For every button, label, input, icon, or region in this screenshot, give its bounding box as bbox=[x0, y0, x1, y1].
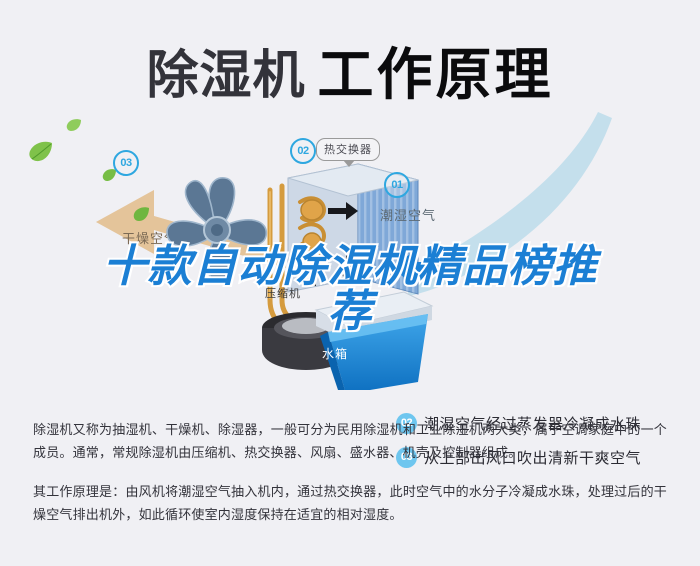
page-title: 除湿机工作原理 bbox=[0, 30, 700, 111]
water-tank-label: 水箱 bbox=[322, 345, 348, 362]
body-copy: 除湿机又称为抽湿机、干燥机、除湿器，一般可分为民用除湿机和工业除湿机两大类，属于… bbox=[33, 418, 667, 542]
leaf-icon bbox=[133, 206, 150, 222]
humid-air-label: 潮湿空气 bbox=[380, 205, 436, 224]
leaf-icon bbox=[66, 118, 82, 132]
leaf-icon bbox=[28, 140, 54, 162]
title-primary: 除湿机 bbox=[146, 47, 305, 105]
badge-02: 02 bbox=[290, 138, 316, 164]
dehumidifier-diagram: 干燥空气 bbox=[0, 110, 700, 400]
paragraph-2: 其工作原理是：由风机将潮湿空气抽入机内，通过热交换器，此时空气中的水分子冷凝成水… bbox=[33, 480, 667, 526]
title-secondary: 工作原理 bbox=[318, 43, 554, 106]
infographic-page: 除湿机工作原理 干燥空气 bbox=[0, 0, 700, 566]
compressor-label: 压缩机 bbox=[265, 285, 301, 301]
badge-03: 03 bbox=[113, 150, 139, 176]
badge-01: 01 bbox=[384, 172, 410, 198]
heat-exchanger-callout: 热交换器 bbox=[316, 138, 380, 161]
paragraph-1: 除湿机又称为抽湿机、干燥机、除湿器，一般可分为民用除湿机和工业除湿机两大类，属于… bbox=[33, 418, 667, 464]
